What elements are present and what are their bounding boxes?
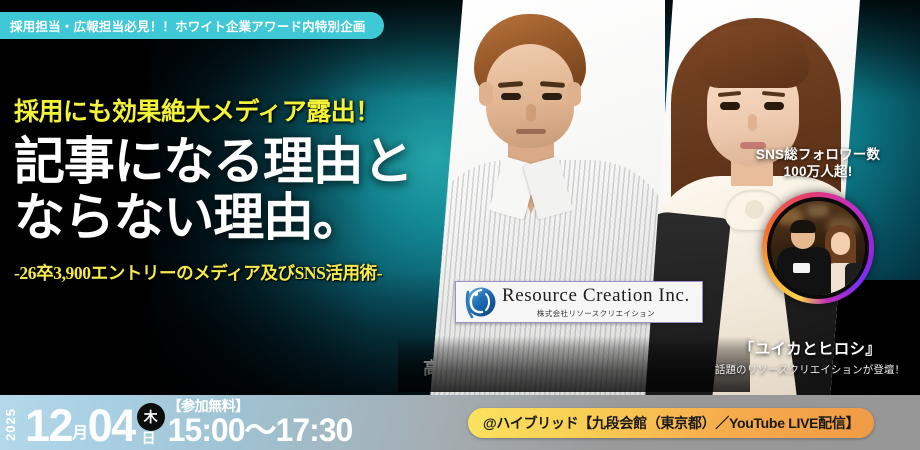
hero-kicker: 採用にも効果絶大メディア露出！ bbox=[14, 92, 444, 128]
event-venue-pill: @ハイブリッド【九段会館（東京都）／YouTube LIVE配信】 bbox=[468, 408, 874, 438]
hero-copy: 採用にも効果絶大メディア露出！ 記事になる理由と ならない理由。 -26卒3,9… bbox=[14, 92, 444, 285]
event-bottom-bar: 2025 12 月 04 木 日 【参加無料】 15:00〜17:30 @ハイブ… bbox=[0, 395, 920, 450]
sns-follower-line1: SNS総フォロワー数 bbox=[720, 147, 916, 164]
company-logo-badge: Resource Creation Inc. 株式会社リソースクリエイション bbox=[455, 281, 703, 323]
company-logo-subtitle: 株式会社リソースクリエイション bbox=[502, 308, 690, 319]
eyebrow-label: 採用担当・広報担当必見！！ホワイト企業アワード内特別企画 bbox=[10, 16, 366, 35]
hero-headline-line2: ならない理由。 bbox=[14, 190, 444, 246]
event-day-number: 04 bbox=[88, 405, 135, 448]
event-year: 2025 bbox=[4, 408, 17, 441]
event-month-number: 12 bbox=[25, 405, 72, 448]
event-month-unit: 月 bbox=[72, 426, 88, 448]
hero-headline-line1: 記事になる理由と bbox=[14, 134, 444, 190]
hero-subcopy: -26卒3,900エントリーのメディア及びSNS活用術- bbox=[14, 260, 444, 285]
promo-banner: 採用担当・広報担当必見！！ホワイト企業アワード内特別企画 bbox=[0, 0, 920, 450]
event-day-unit: 日 bbox=[142, 431, 156, 445]
resource-creation-logo-icon bbox=[460, 284, 500, 320]
event-time-group: 【参加無料】 15:00〜17:30 bbox=[168, 399, 353, 448]
speaker-name-strip bbox=[398, 336, 750, 392]
sns-avatar-ring bbox=[762, 192, 874, 304]
sns-avatar-photo bbox=[771, 201, 865, 295]
sns-caption: 「ユイカとヒロシ』 話題のリソースクリエイションが登壇！ bbox=[700, 337, 920, 377]
event-day-of-week: 木 bbox=[137, 403, 165, 431]
event-venue-label: @ハイブリッド【九段会館（東京都）／YouTube LIVE配信】 bbox=[483, 413, 859, 433]
sns-caption-title: 「ユイカとヒロシ』 bbox=[700, 337, 920, 359]
eyebrow-banner: 採用担当・広報担当必見！！ホワイト企業アワード内特別企画 bbox=[0, 12, 384, 39]
company-logo-name: Resource Creation Inc. bbox=[502, 286, 690, 305]
sns-follower-line2: 100万人超! bbox=[720, 164, 916, 181]
event-date-line: 12 月 04 木 日 【参加無料】 15:00〜17:30 bbox=[25, 399, 352, 448]
sns-caption-note: 話題のリソースクリエイションが登壇！ bbox=[700, 362, 920, 377]
hero-headline: 記事になる理由と ならない理由。 bbox=[14, 134, 444, 246]
sns-follower-headline: SNS総フォロワー数 100万人超! bbox=[720, 147, 916, 181]
event-day-of-week-group: 木 日 bbox=[136, 402, 166, 448]
event-time: 15:00〜17:30 bbox=[168, 414, 353, 448]
